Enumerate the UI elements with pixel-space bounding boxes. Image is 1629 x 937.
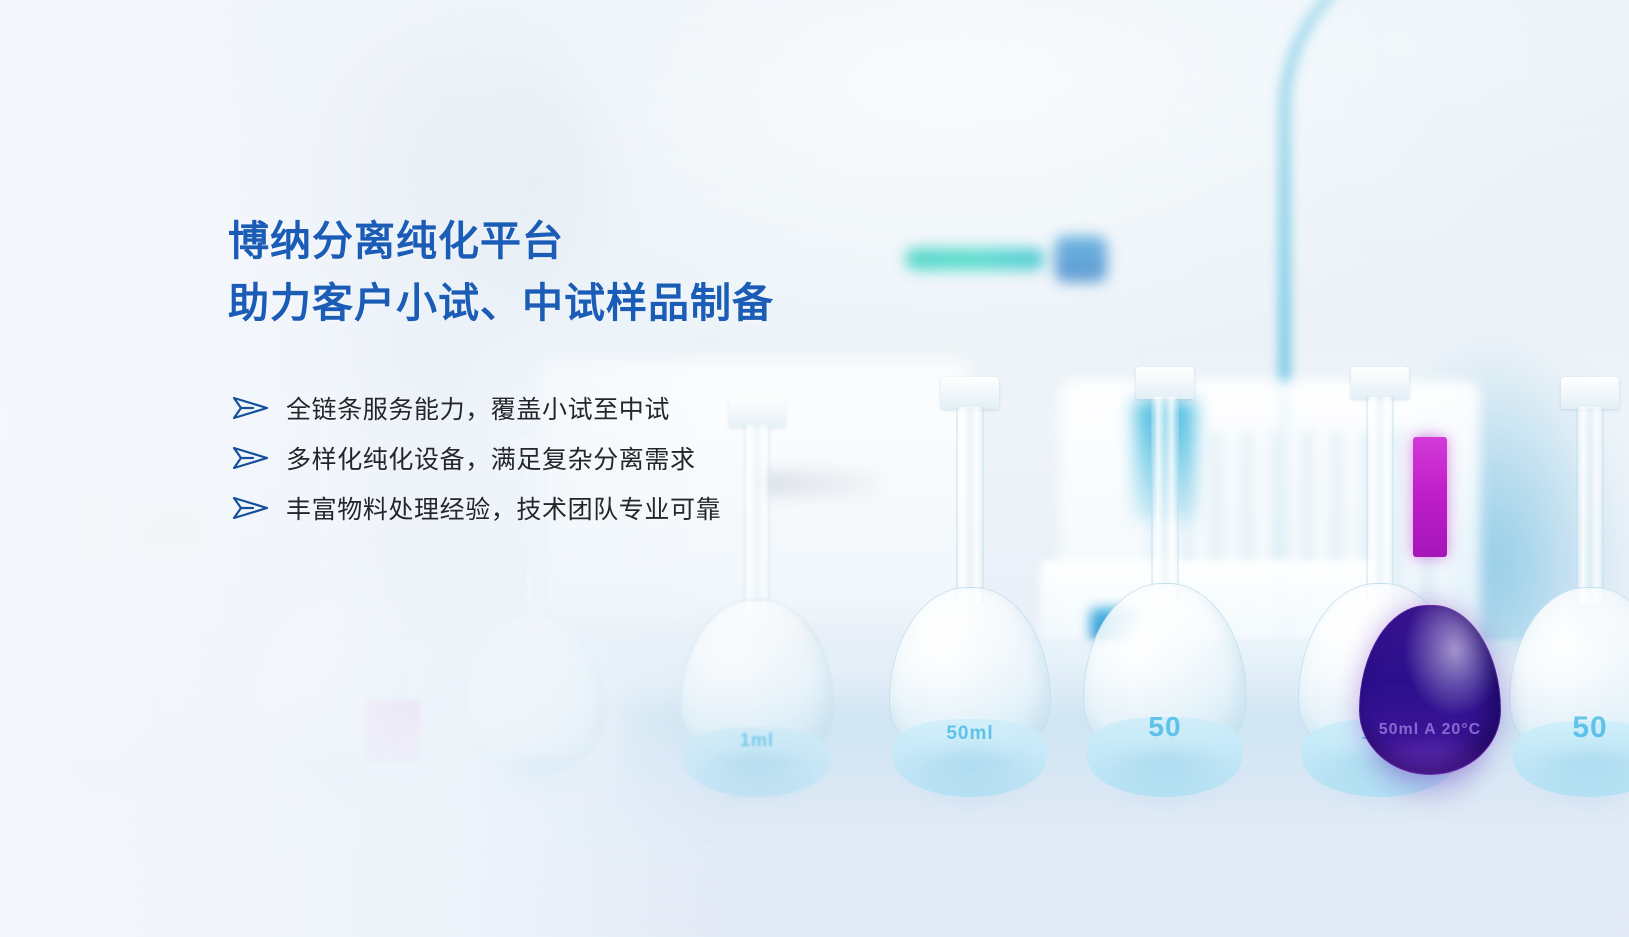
flask-label: 1ml xyxy=(740,730,774,751)
flask-9: 50 xyxy=(1500,377,1629,797)
flask-neck xyxy=(957,407,984,603)
flask-label: 50ml A 20°C xyxy=(1379,721,1481,739)
list-item: 丰富物料处理经验，技术团队专业可靠 xyxy=(228,484,774,532)
flask-label: 50ml xyxy=(946,723,993,745)
flask-label: 50 xyxy=(1148,711,1181,743)
hero-content: 博纳分离纯化平台 助力客户小试、中试样品制备 全链条服务能力，覆盖小试至中试 xyxy=(228,210,774,534)
flask-reflection xyxy=(1089,751,1241,809)
list-item-label: 全链条服务能力，覆盖小试至中试 xyxy=(286,390,670,426)
list-item-label: 多样化纯化设备，满足复杂分离需求 xyxy=(286,440,696,476)
flask-8-purple: 50ml A 20°C xyxy=(1355,437,1505,797)
flask-6: 50 xyxy=(1075,367,1255,797)
headline-line-1: 博纳分离纯化平台 xyxy=(228,210,774,272)
feature-list: 全链条服务能力，覆盖小试至中试 多样化纯化设备，满足复杂分离需求 xyxy=(228,384,774,532)
flask-5: 50ml xyxy=(880,377,1060,797)
hero-banner: 50ml 1ml 50ml 50 xyxy=(0,0,1629,937)
flask-neck xyxy=(1577,407,1604,603)
flask-reflection xyxy=(895,751,1045,809)
list-item-label: 丰富物料处理经验，技术团队专业可靠 xyxy=(286,490,721,526)
flask-reflection-purple xyxy=(1362,741,1498,811)
arrow-right-outline-icon xyxy=(228,443,274,473)
flask-label: 50 xyxy=(1572,711,1607,745)
flask-neck xyxy=(1152,397,1179,601)
flask-neck-purple xyxy=(1413,437,1447,557)
list-item: 多样化纯化设备，满足复杂分离需求 xyxy=(228,434,774,482)
list-item: 全链条服务能力，覆盖小试至中试 xyxy=(228,384,774,432)
headline-line-2: 助力客户小试、中试样品制备 xyxy=(228,272,774,334)
arrow-right-outline-icon xyxy=(228,493,274,523)
arrow-right-outline-icon xyxy=(228,393,274,423)
